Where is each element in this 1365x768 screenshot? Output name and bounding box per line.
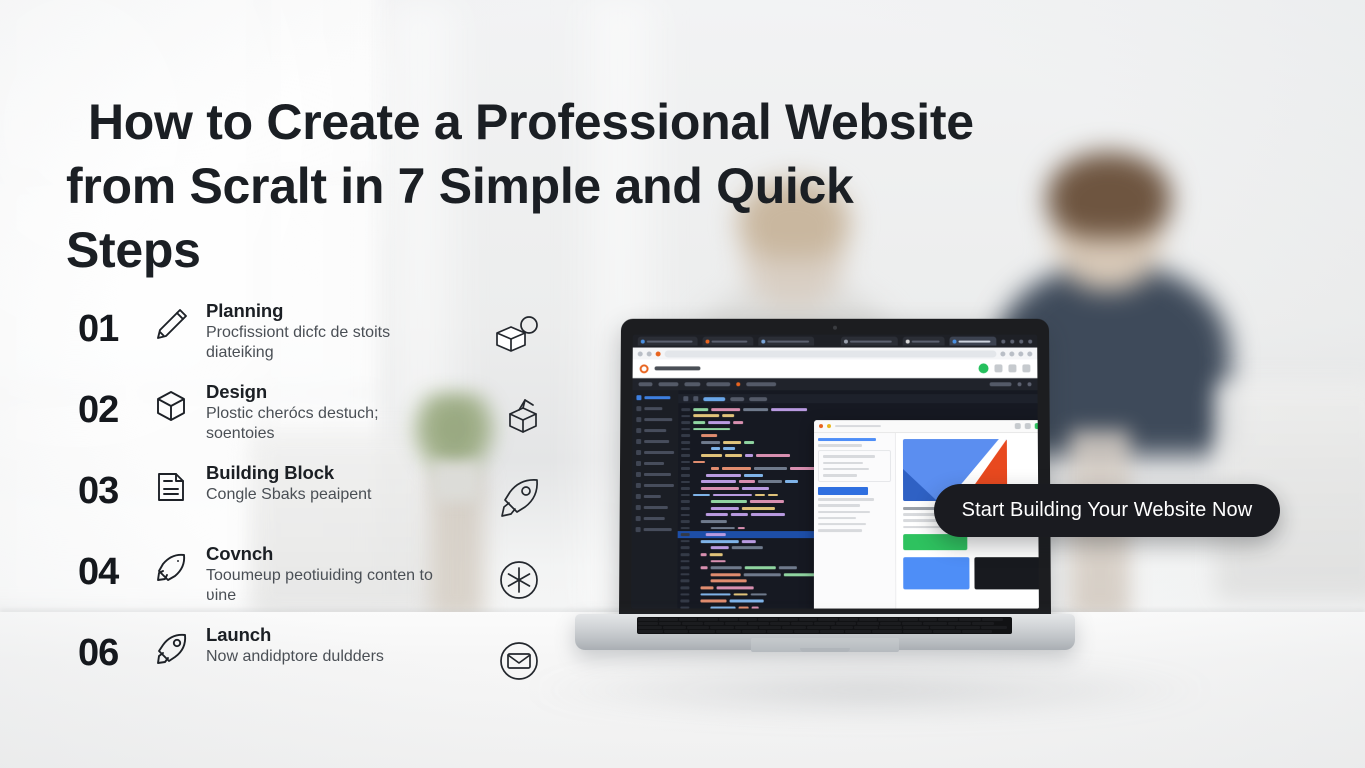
keyboard-key: [878, 618, 898, 621]
bookmark-icon[interactable]: [1000, 351, 1005, 356]
keyboard-key: [679, 618, 697, 621]
keyboard-key: [879, 626, 902, 629]
keyboard-key: [956, 626, 980, 629]
webcam-icon: [833, 326, 837, 330]
brand-name: [655, 366, 701, 370]
keyboard-key: [880, 622, 901, 625]
page-title: How to Create a Professional Website fro…: [88, 90, 988, 282]
keyboard-key: [663, 626, 686, 629]
laptop-screen[interactable]: [631, 335, 1039, 609]
keyboard-key: [659, 618, 678, 621]
keyboard-key: [725, 622, 747, 625]
keyboard-key: [836, 622, 856, 625]
browser-address-bar[interactable]: [633, 348, 1038, 360]
url-input[interactable]: [665, 350, 997, 357]
keyboard-key: [972, 622, 994, 625]
envelope-circle-icon: [493, 620, 545, 701]
keyboard-key: [854, 626, 878, 629]
keyboard-key: [933, 630, 961, 633]
forward-icon[interactable]: [647, 351, 652, 356]
preview-toolbar[interactable]: [814, 420, 1039, 433]
keyboard-key: [719, 618, 738, 621]
keyboard-key: [807, 626, 830, 629]
step-item[interactable]: 03 Building Block Congle Sbaks peaipent: [78, 458, 548, 539]
keyboard-key: [782, 626, 806, 629]
keyboard-key: [962, 630, 992, 633]
keyboard-key: [818, 618, 838, 621]
reload-icon[interactable]: [656, 351, 661, 356]
keyboard-key: [839, 618, 858, 621]
browser-tab-active[interactable]: [950, 337, 997, 346]
keyboard-key: [794, 630, 819, 633]
step-item[interactable]: 02 Design Plostic cherócs destuch; soent…: [78, 377, 548, 458]
step-subtitle: Tooumeup peotiuiding conten to ʋine: [206, 566, 436, 607]
step-item[interactable]: 04 Covnch Tooumeup peotiuiding conten to…: [78, 539, 548, 620]
step-subtitle: Plostic cherócs destuch; soentoies: [206, 404, 436, 445]
apps-icon[interactable]: [1022, 364, 1030, 372]
keyboard-key: [831, 626, 853, 629]
rocket-icon: [150, 620, 206, 670]
keyboard-key: [899, 618, 918, 621]
keyboard-key: [959, 618, 981, 621]
keyboard-key: [767, 630, 793, 633]
browser-tab[interactable]: [758, 337, 814, 346]
ide-file-sidebar[interactable]: [631, 390, 678, 608]
back-icon[interactable]: [638, 351, 643, 356]
status-indicator: [979, 363, 989, 373]
keyboard-key: [857, 622, 879, 625]
keyboard-key: [638, 622, 658, 625]
keyboard-key: [903, 630, 932, 633]
keyboard-key: [814, 622, 835, 625]
keyboard-key: [638, 630, 663, 633]
keyboard-key: [689, 630, 715, 633]
step-subtitle: Procfissiont dicfc de stoits diateiƙing: [206, 323, 436, 364]
keyboard-key: [638, 618, 658, 621]
keyboard-key: [742, 630, 766, 633]
step-number: 02: [78, 377, 150, 429]
open-box-arrow-icon: [493, 377, 545, 458]
rocket-outline-icon: [493, 458, 545, 539]
keyboard-key: [770, 622, 790, 625]
keyboard-key: [859, 618, 877, 621]
app-header: [633, 359, 1038, 378]
keyboard-key: [759, 626, 781, 629]
brand-logo-icon: [640, 364, 649, 373]
asterisk-circle-icon: [493, 539, 545, 620]
step-number: 04: [78, 539, 150, 591]
keyboard-key: [799, 618, 817, 621]
extensions-icon[interactable]: [1009, 351, 1014, 356]
step-item[interactable]: 06 Launch Now andidptore duldders: [78, 620, 548, 701]
browser-tab[interactable]: [703, 337, 753, 346]
menu-icon[interactable]: [1027, 351, 1032, 356]
keyboard-key: [687, 626, 709, 629]
rocket-icon: [150, 539, 206, 589]
keyboard-key: [845, 630, 871, 633]
keyboard-key: [820, 630, 844, 633]
step-subtitle: Now andidptore duldders: [206, 647, 436, 667]
headline-line-2: from Scralt in 7 Simple and Quick Steps: [66, 154, 988, 282]
keyboard-key: [791, 622, 813, 625]
keyboard-key: [716, 630, 741, 633]
laptop-lid: [619, 319, 1051, 619]
step-item[interactable]: 01 Planning Procfissiont dicfc de stoits…: [78, 296, 548, 377]
keyboard-key: [704, 622, 724, 625]
step-number: 01: [78, 296, 150, 348]
keyboard-key: [923, 622, 947, 625]
profile-icon[interactable]: [1018, 351, 1023, 356]
laptop-open-notch: [800, 648, 850, 652]
browser-tab[interactable]: [902, 337, 945, 346]
browser-tab[interactable]: [841, 337, 897, 346]
keyboard-key: [919, 618, 937, 621]
keyboard-key: [735, 626, 758, 629]
preview-sidebar[interactable]: [814, 433, 896, 608]
browser-tab-strip[interactable]: [633, 335, 1037, 348]
keyboard-key: [981, 626, 1007, 629]
bell-icon[interactable]: [994, 364, 1002, 372]
keyboard-key: [758, 618, 778, 621]
browser-tab[interactable]: [638, 337, 698, 346]
help-icon[interactable]: [1008, 364, 1016, 372]
pencil-icon: [150, 296, 206, 346]
keyboard-key: [638, 626, 662, 629]
keyboard-key: [938, 618, 958, 621]
step-subtitle: Congle Sbaks peaipent: [206, 485, 436, 505]
keyboard-key: [903, 626, 929, 629]
keyboard-key: [739, 618, 757, 621]
keyboard-key: [872, 630, 902, 633]
step-number: 03: [78, 458, 150, 510]
keyboard-key: [682, 622, 703, 625]
laptop-keyboard[interactable]: [637, 617, 1012, 634]
cube-icon: [150, 377, 206, 427]
document-icon: [150, 458, 206, 508]
keyboard-key: [698, 618, 718, 621]
keyboard-key: [664, 630, 688, 633]
editor-tab-bar[interactable]: [678, 394, 1037, 403]
ide-toolbar[interactable]: [633, 378, 1038, 390]
cta-label: Start Building Your Website Now: [962, 499, 1253, 522]
box-sphere-icon: [493, 296, 545, 377]
headline-line-1: How to Create a Professional Website: [88, 90, 988, 154]
keyboard-key: [659, 622, 681, 625]
keyboard-key: [902, 622, 922, 625]
keyboard-key: [779, 618, 798, 621]
keyboard-key: [982, 618, 1003, 621]
keyboard-key: [948, 622, 971, 625]
keyboard-key: [710, 626, 734, 629]
keyboard-key: [930, 626, 955, 629]
steps-list: 01 Planning Procfissiont dicfc de stoits…: [78, 296, 548, 701]
decorative-icon-column: [493, 296, 545, 701]
poster-canvas: How to Create a Professional Website fro…: [0, 0, 1365, 768]
keyboard-key: [748, 622, 769, 625]
step-number: 06: [78, 620, 150, 672]
cta-button[interactable]: Start Building Your Website Now: [934, 484, 1280, 537]
